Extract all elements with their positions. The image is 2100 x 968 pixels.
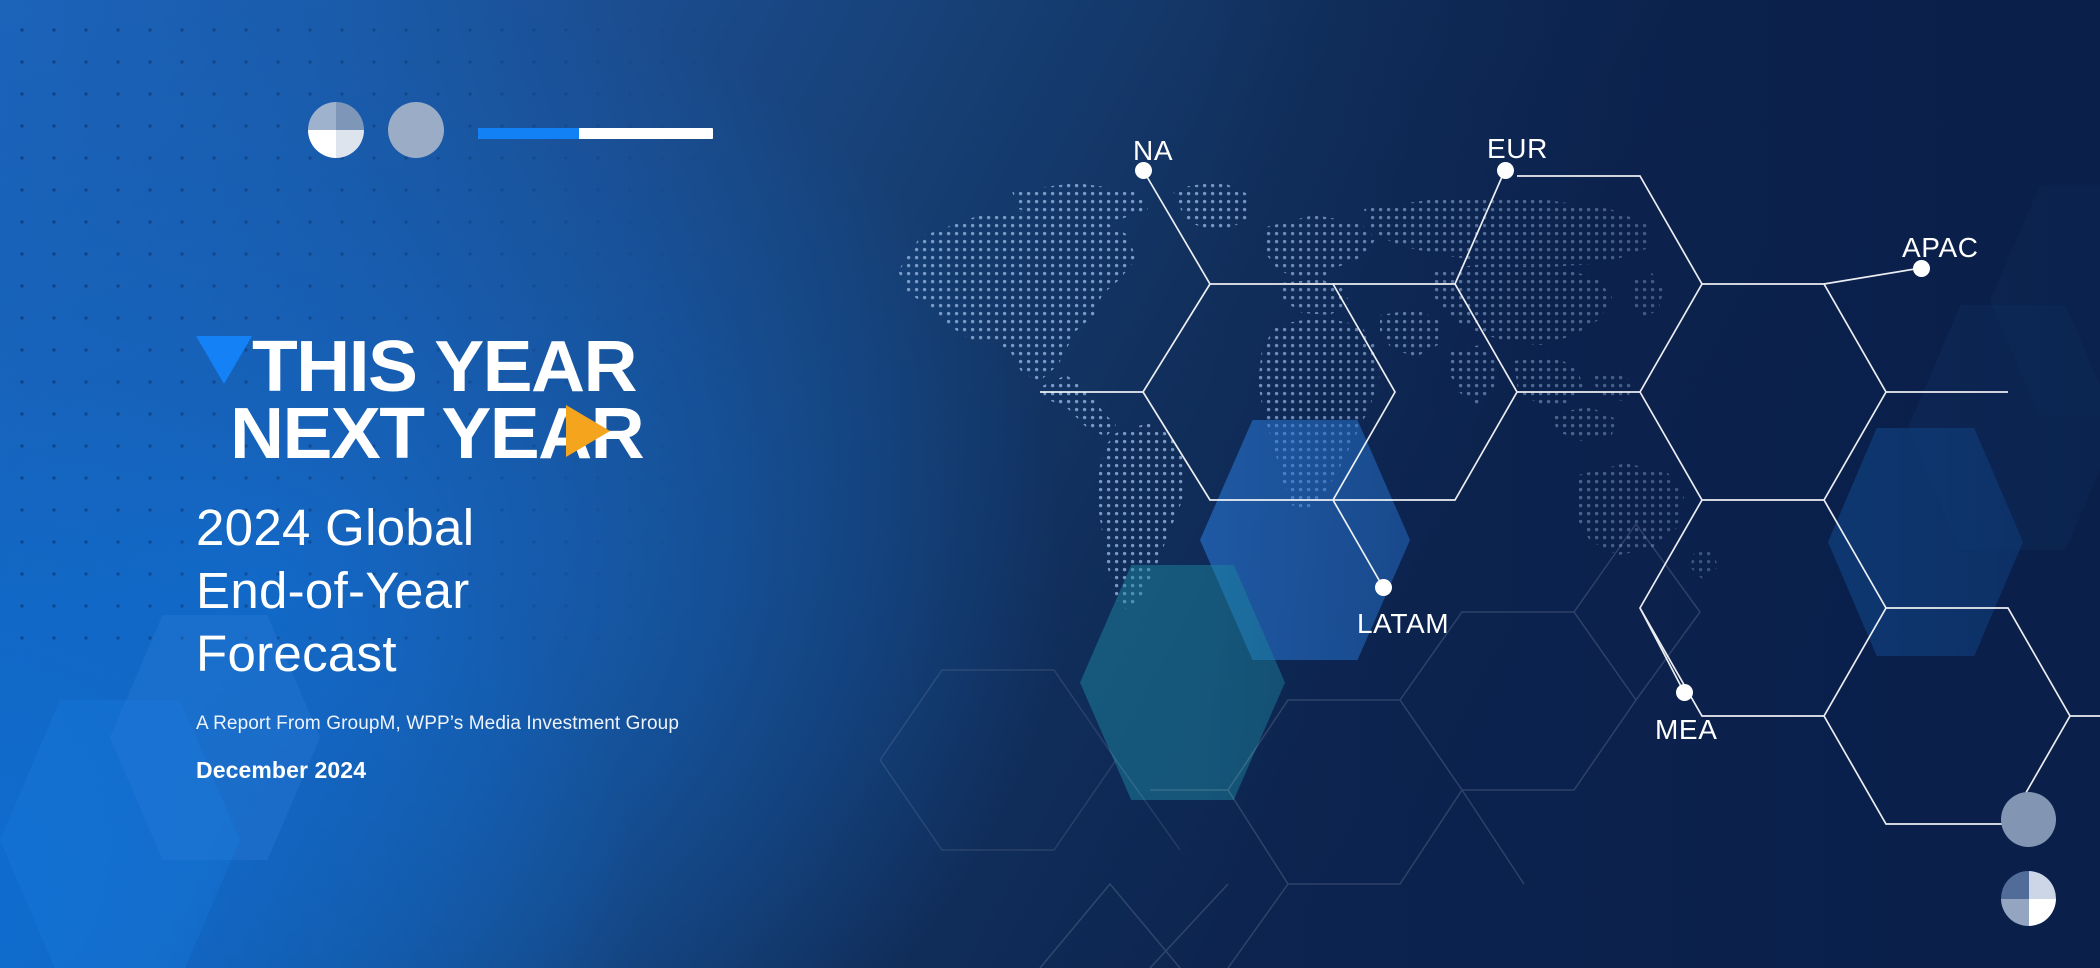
triangle-right-icon — [566, 405, 610, 457]
quadrant-circle-icon-bottom — [2001, 871, 2056, 926]
quadrant-top-right — [2029, 871, 2057, 899]
title-block: THIS YEAR NEXT YEAR 2024 Global End-of-Y… — [196, 330, 1016, 784]
page-title: 2024 Global End-of-Year Forecast — [196, 496, 1016, 685]
progress-bar-track — [478, 128, 713, 139]
report-subtitle: A Report From GroupM, WPP’s Media Invest… — [196, 713, 1016, 735]
quadrant-top-left — [2001, 871, 2029, 899]
region-label-apac[interactable]: APAC — [1902, 232, 1979, 264]
quadrant-bottom-left — [308, 130, 336, 158]
right-edge-hex — [1990, 185, 2100, 417]
right-dark-hex — [1908, 305, 2100, 550]
quadrant-bottom-right — [336, 130, 364, 158]
quadrant-top-left — [308, 102, 336, 130]
report-date: December 2024 — [196, 757, 1016, 784]
triangle-down-icon — [196, 336, 252, 384]
region-dot-mea[interactable] — [1676, 684, 1693, 701]
right-vignette — [1200, 0, 2100, 968]
quadrant-circle-icon — [308, 102, 364, 158]
region-dot-latam[interactable] — [1375, 579, 1392, 596]
region-dot-eur[interactable] — [1497, 162, 1514, 179]
slide-canvas: THIS YEAR NEXT YEAR 2024 Global End-of-Y… — [0, 0, 2100, 968]
solid-circle-icon — [388, 102, 444, 158]
progress-bar-fill — [478, 128, 579, 139]
region-label-latam[interactable]: LATAM — [1357, 608, 1449, 640]
quadrant-top-right — [336, 102, 364, 130]
center-teal-hex — [1080, 565, 1285, 800]
brand-mark-top — [308, 102, 444, 158]
region-dot-na[interactable] — [1135, 162, 1152, 179]
region-label-mea[interactable]: MEA — [1655, 714, 1717, 746]
brand-text-this-year: THIS YEAR — [252, 330, 636, 404]
region-label-eur[interactable]: EUR — [1487, 133, 1548, 165]
quadrant-bottom-right — [2029, 899, 2057, 927]
brand-logo-line-2: NEXT YEAR — [196, 397, 1016, 472]
quadrant-bottom-left — [2001, 899, 2029, 927]
region-dot-apac[interactable] — [1913, 260, 1930, 277]
brand-mark-bottom — [2001, 792, 2056, 926]
right-blue-hex — [1828, 428, 2023, 656]
solid-circle-icon-bottom — [2001, 792, 2056, 847]
